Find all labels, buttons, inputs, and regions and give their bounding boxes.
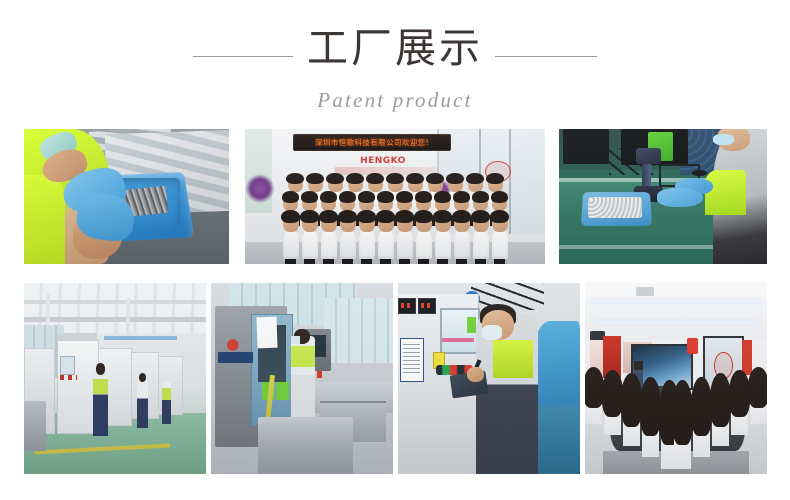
group-photo-person [473,213,489,259]
photo-scene [398,283,580,474]
gallery-image-company-group-photo[interactable]: 深圳市恒歌科技有限公司欢迎您! HENGKO [245,129,545,264]
group-photo-person [492,213,508,259]
meeting-attendee [585,371,602,425]
photo-scene [24,129,229,264]
company-logo: HENGKO [344,155,422,167]
group-photo-front-row [245,213,545,259]
group-photo-person [435,213,451,259]
meeting-attendee [750,371,767,425]
led-banner-text: 深圳市恒歌科技有限公司欢迎您! [315,137,429,148]
gallery-image-conference-room-meeting[interactable] [585,283,767,474]
group-photo-person [283,213,299,259]
photo-scene [559,129,767,264]
photo-scene [211,283,393,474]
photo-scene: 深圳市恒歌科技有限公司欢迎您! HENGKO [245,129,545,264]
company-logo-text: HENGKO [360,156,406,166]
group-photo-person [454,213,470,259]
gallery-image-equipment-operator-with-clipboard[interactable] [398,283,580,474]
group-photo-person [359,213,375,259]
meeting-attendee [604,375,621,436]
meeting-attendees-right [727,371,767,474]
meeting-attendee [623,379,640,447]
gallery-image-microscope-quality-inspection[interactable] [559,129,767,264]
meeting-attendee [674,387,691,470]
group-photo-person [340,213,356,259]
meeting-attendees-left [585,371,625,474]
led-scrolling-banner: 深圳市恒歌科技有限公司欢迎您! [293,134,451,151]
group-photo-person [321,213,337,259]
meeting-attendee [731,375,748,436]
gallery-image-production-line-workshop[interactable] [24,283,206,474]
photo-scene [585,283,767,474]
gallery-image-cnc-machining-station[interactable] [211,283,393,474]
group-photo-person [302,213,318,259]
meeting-attendee [712,379,729,447]
group-photo-person [397,213,413,259]
group-photo-person [416,213,432,259]
meeting-attendee [642,383,659,458]
factory-photo-gallery: 深圳市恒歌科技有限公司欢迎您! HENGKO [0,0,790,500]
factory-showcase-page: 工厂展示 Patent product [0,0,790,500]
meeting-attendee [693,383,710,458]
group-photo-person [378,213,394,259]
photo-scene [24,283,206,474]
gallery-image-worker-sorting-parts-in-blue-basket[interactable] [24,129,229,264]
